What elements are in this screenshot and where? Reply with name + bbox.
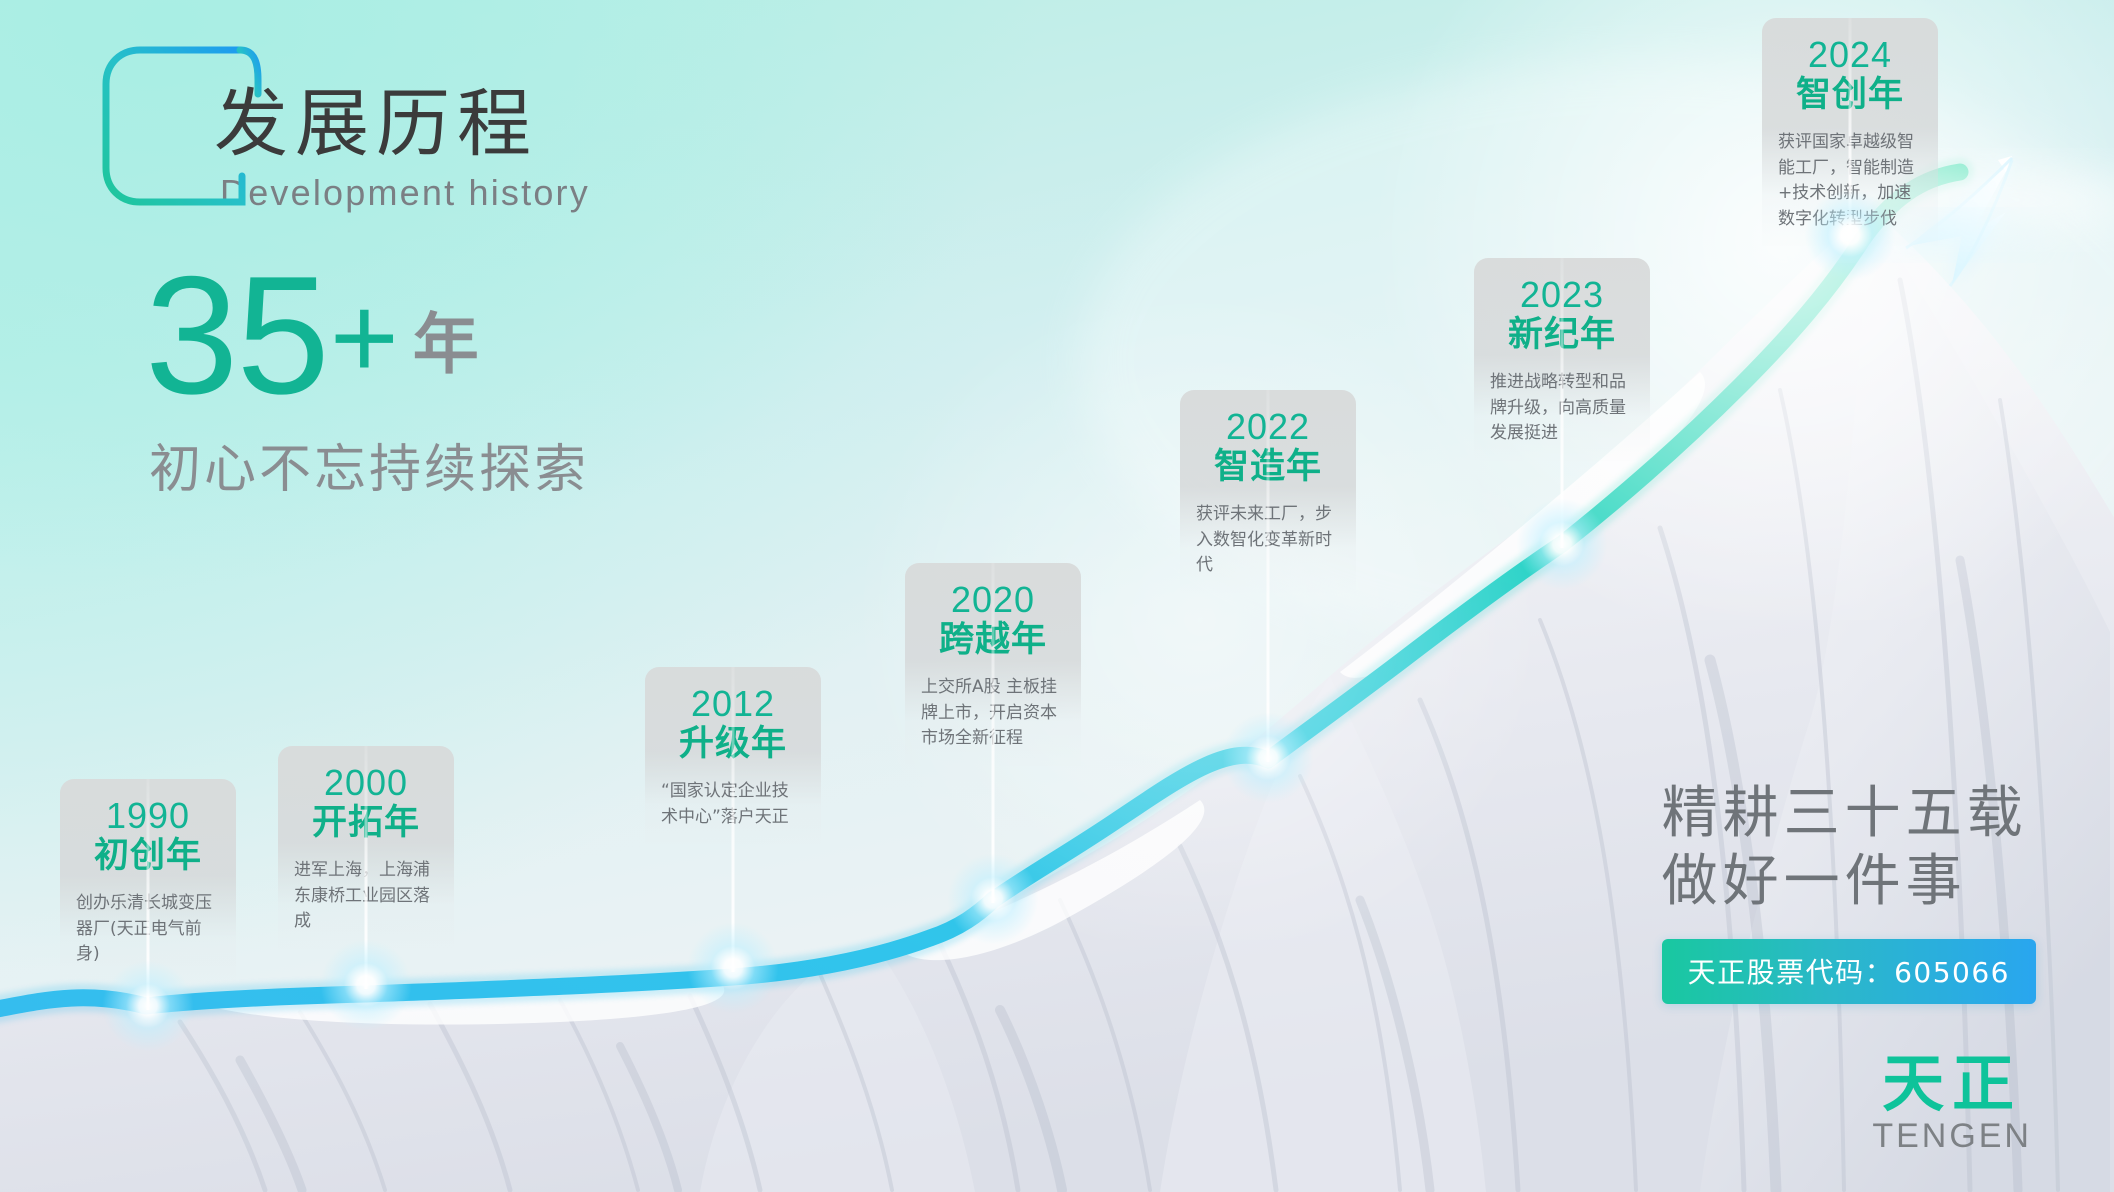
timeline-stem: [732, 667, 735, 972]
poster-canvas: 发展历程 Development history 35 + 年 初心不忘持续探索…: [0, 0, 2114, 1192]
timeline-stem: [992, 563, 995, 903]
timeline-stem: [1267, 390, 1270, 762]
slogan-line-1: 精耕三十五载: [1662, 780, 2036, 848]
stat-plus-sign: +: [330, 279, 399, 397]
rounded-bracket-icon: [92, 36, 272, 216]
slogan-line-2: 做好一件事: [1662, 848, 2036, 916]
years-stat: 35 + 年 初心不忘持续探索: [145, 258, 589, 502]
slogan-block: 精耕三十五载 做好一件事 天正股票代码：605066: [1662, 780, 2036, 1004]
brand-name-cn: 天正: [1872, 1053, 2032, 1115]
brand-logo: 天正 TENGEN: [1872, 1053, 2032, 1156]
stat-number: 35: [145, 258, 328, 413]
stat-tagline: 初心不忘持续探索: [149, 427, 589, 502]
timeline-stem: [1561, 258, 1564, 548]
timeline-stem: [1849, 18, 1852, 239]
brand-name-en: TENGEN: [1872, 1117, 2032, 1156]
stat-unit: 年: [413, 291, 479, 387]
timeline-stem: [147, 779, 150, 1010]
page-header: 发展历程 Development history: [128, 38, 768, 214]
stock-code-badge: 天正股票代码：605066: [1662, 939, 2036, 1004]
timeline-stem: [365, 746, 368, 989]
